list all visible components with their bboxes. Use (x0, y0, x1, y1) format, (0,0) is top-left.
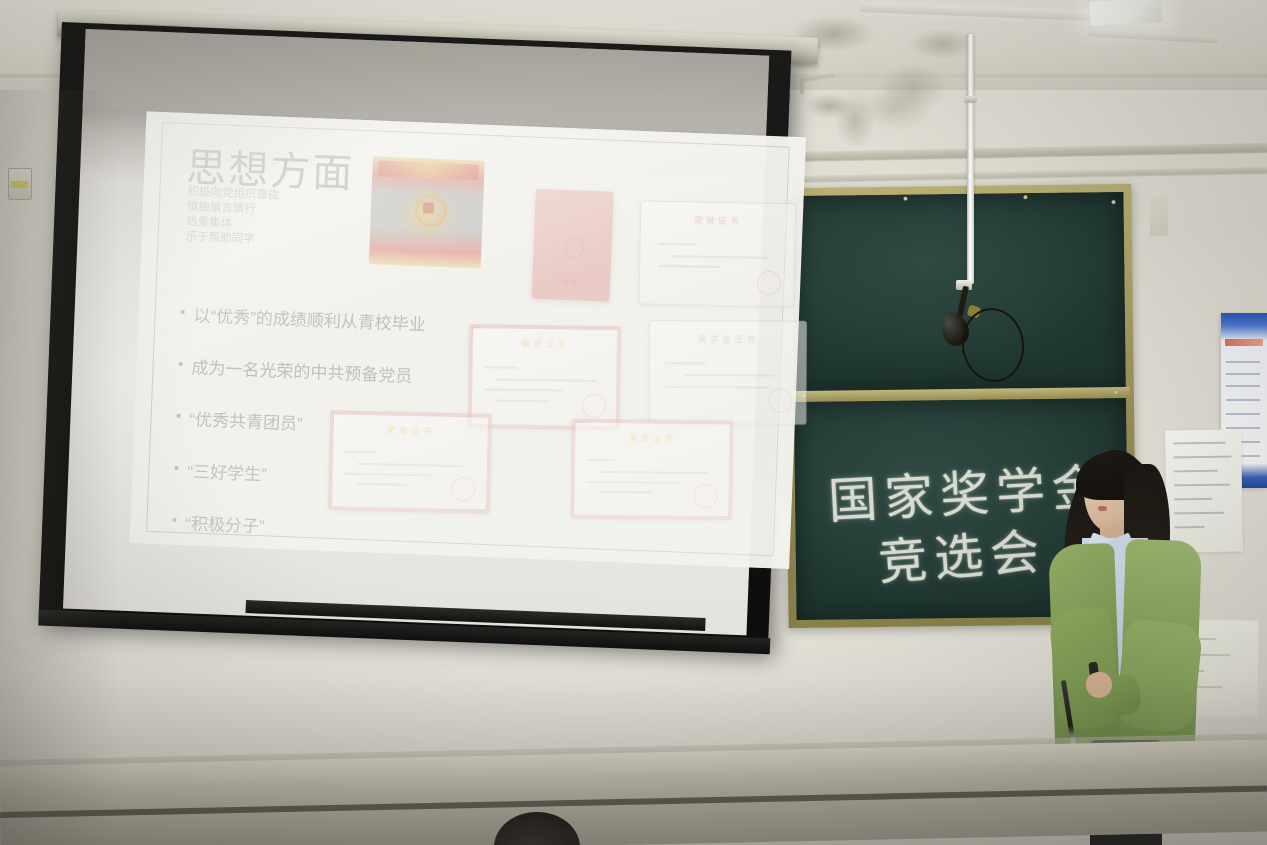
microphone-pole-joint (964, 96, 977, 103)
certificate-title: 荣誉证书 (469, 337, 621, 352)
certificate-text-line (586, 459, 615, 461)
certificate-stamp-icon (768, 388, 792, 412)
certificate-stamp-icon (757, 270, 781, 294)
red-certificate-booklet: 证书 (532, 189, 614, 302)
bullet-dot-icon (175, 466, 179, 470)
emblem-core-icon (423, 202, 434, 213)
booklet-caption: 证书 (532, 276, 610, 288)
emblem-banner (378, 161, 479, 181)
certificate-corner (574, 422, 582, 430)
certificate-text-line (665, 362, 706, 364)
bullet-text: “优秀共青团员” (189, 405, 303, 434)
bullet-dot-icon (179, 362, 183, 366)
presenter-mouth (1098, 506, 1107, 511)
certificate-title: 奖学金证书 (649, 333, 807, 347)
certificate-top-right: 荣誉证书 (638, 200, 796, 307)
poster-text-line (1226, 373, 1260, 375)
bullet-text: “三好学生” (187, 457, 267, 485)
certificate-bottom-left: 荣誉证书 (328, 410, 492, 514)
poster-text-line (1226, 413, 1260, 415)
certificate-mid-right: 奖学金证书 (649, 320, 807, 425)
national-emblem-photo (369, 156, 485, 268)
bullet-dot-icon (181, 310, 185, 314)
poster-title-band (1225, 339, 1263, 346)
projection-screen[interactable]: 思想方面 积极向党组织靠拢 慎独慎言慎行 热爱集体 乐于帮助同学 以“优秀”的成… (38, 22, 791, 650)
frame-screw (1023, 195, 1027, 199)
certificate-stamp-icon (582, 393, 606, 417)
poster-text-line (1226, 399, 1260, 401)
slide-subtext: 积极向党组织靠拢 慎独慎言慎行 热爱集体 乐于帮助同学 (185, 185, 279, 249)
blackboard-upper-panel (791, 192, 1125, 392)
presentation-slide: 思想方面 积极向党组织靠拢 慎独慎言慎行 热爱集体 乐于帮助同学 以“优秀”的成… (130, 111, 806, 569)
slide-bullet: “积极分子” (172, 509, 533, 548)
frame-screw (903, 197, 907, 201)
certificate-title: 荣誉证书 (571, 431, 733, 446)
bullet-dot-icon (172, 518, 176, 522)
certificate-corner (721, 509, 729, 517)
frame-screw (1114, 390, 1118, 394)
certificate-text-line (664, 386, 768, 388)
certificate-bottom-right: 荣誉证书 (570, 419, 733, 521)
poster-text-line (1226, 361, 1260, 363)
bullet-dot-icon (177, 414, 181, 418)
wall-shadow-bottom (0, 675, 1267, 845)
microphone-pole (967, 34, 974, 284)
wall-hook-stem (800, 78, 804, 94)
wall-vent (1150, 196, 1168, 236)
bullet-text: 成为一名光荣的中共预备党员 (191, 353, 413, 387)
bullet-text: “积极分子” (185, 509, 265, 537)
fluorescent-light-icon (1089, 0, 1162, 26)
certificate-corner (479, 503, 487, 511)
chalk-text-line-2: 竞选会 (876, 512, 1049, 595)
certificate-corner (472, 327, 480, 335)
classroom-scene: 国家奖学金 竞选会 投影幕布 思想方面 积极向党组织靠拢 慎独慎言慎行 热爱集体… (0, 0, 1267, 845)
frame-screw (1111, 200, 1115, 204)
booklet-emblem-icon (563, 238, 584, 259)
poster-text-line (1226, 385, 1260, 387)
certificate-corner (333, 413, 341, 421)
